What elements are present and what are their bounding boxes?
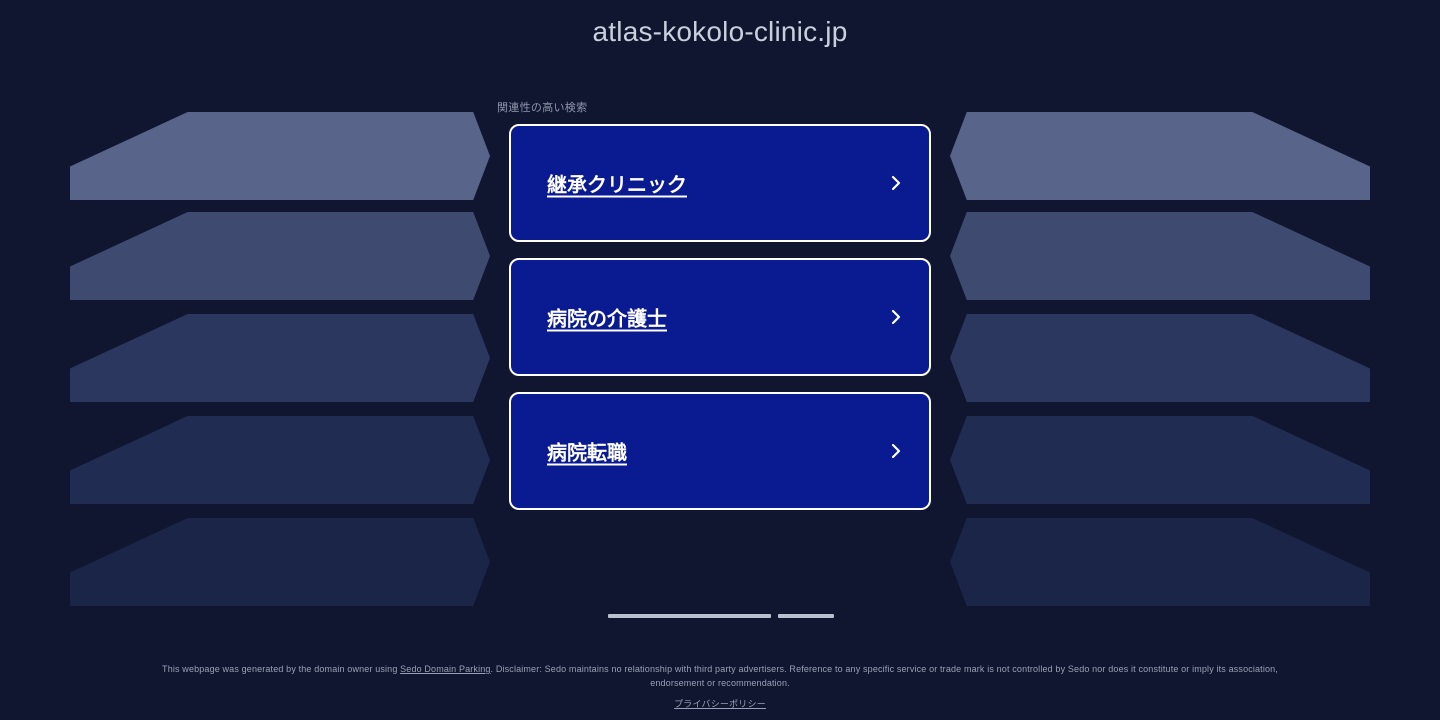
search-result-link-3[interactable]: 病院転職: [509, 392, 931, 510]
disclaimer-suffix: . Disclaimer: Sedo maintains no relation…: [491, 664, 1278, 688]
search-result-link-1[interactable]: 継承クリニック: [509, 124, 931, 242]
parked-domain-page: atlas-kokolo-clinic.jp 関連性の高い検索 継承クリニック …: [0, 0, 1440, 720]
related-searches-label: 関連性の高い検索: [497, 99, 587, 115]
disclaimer-text: This webpage was generated by the domain…: [0, 662, 1440, 690]
search-result-link-2[interactable]: 病院の介護士: [509, 258, 931, 376]
search-result-label: 継承クリニック: [547, 169, 687, 198]
chevron-right-icon: [887, 174, 905, 192]
footer: This webpage was generated by the domain…: [0, 662, 1440, 712]
chevron-right-icon: [887, 308, 905, 326]
disclaimer-prefix: This webpage was generated by the domain…: [162, 664, 400, 674]
bottom-divider-group: [608, 614, 834, 619]
related-searches-list: 継承クリニック 病院の介護士 病院転職: [509, 124, 931, 526]
divider-long: [608, 614, 771, 618]
page-title: atlas-kokolo-clinic.jp: [0, 16, 1440, 48]
privacy-policy-link[interactable]: プライバシーポリシー: [674, 697, 766, 710]
search-result-label: 病院転職: [547, 437, 627, 466]
divider-short: [778, 614, 834, 618]
search-result-label: 病院の介護士: [547, 303, 667, 332]
sedo-domain-parking-link[interactable]: Sedo Domain Parking: [400, 664, 490, 674]
chevron-right-icon: [887, 442, 905, 460]
